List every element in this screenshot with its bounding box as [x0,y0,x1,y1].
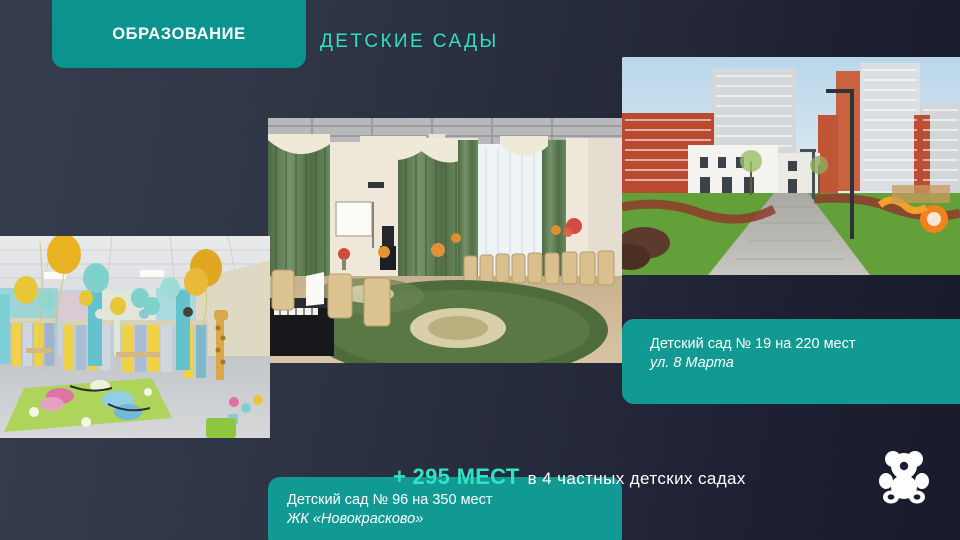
card-kindergarten-96: Детский сад № 96 на 350 мест ЖК «Новокра… [268,118,622,431]
summary-rest: в 4 частных детских садах [528,469,746,489]
card-kindergarten-19: Детский сад № 19 на 220 мест ул. 8 Марта [622,57,960,347]
page-title: ДЕТСКИЕ САДЫ [320,31,499,53]
caption-kindergarten-19: Детский сад № 19 на 220 мест ул. 8 Марта [622,319,960,404]
summary-line: + 295 МЕСТ в 4 частных детских садах [393,464,746,490]
card-palisadik: Палисадик на 100 мест ул. Весенняя [0,236,270,506]
tab-label: ОБРАЗОВАНИЕ [112,25,246,44]
complex-illustration [622,57,960,275]
tab-obrazovanie[interactable]: ОБРАЗОВАНИЕ [52,0,306,68]
hall-illustration [268,118,622,363]
residential-complex-photo [622,57,960,275]
caption-line-1: Детский сад № 19 на 220 мест [650,335,960,354]
slide-root: ОБРАЗОВАНИЕ ДЕТСКИЕ САДЫ [0,0,960,540]
teddy-bear-glyph [876,448,932,504]
cloakroom-illustration [0,236,270,438]
summary-highlight: + 295 МЕСТ [393,464,520,490]
caption-line-2: ЖК «Новокрасково» [287,510,622,529]
assembly-hall-photo [268,118,622,363]
kindergarten-cloakroom-photo [0,236,270,438]
caption-line-2: ул. 8 Марта [650,354,960,373]
caption-line-1: Детский сад № 96 на 350 мест [287,491,622,510]
teddy-bear-icon [876,448,932,504]
